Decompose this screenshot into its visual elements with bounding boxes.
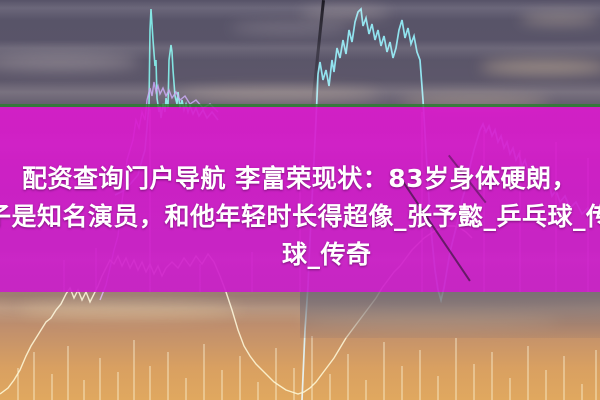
caption-overlay: 配资查询门户导航 李富荣现状：83岁身体硬朗， 子是知名演员，和他年轻时长得超像… (0, 0, 600, 400)
caption-line-2: 子是知名演员，和他年轻时长得超像_张予懿_乒乓球_传 (0, 198, 600, 236)
thumbnail-image: 配资查询门户导航 李富荣现状：83岁身体硬朗， 子是知名演员，和他年轻时长得超像… (0, 0, 600, 400)
caption-line-3: 球_传奇 (282, 236, 372, 274)
caption-line-1: 配资查询门户导航 李富荣现状：83岁身体硬朗， (22, 160, 577, 198)
